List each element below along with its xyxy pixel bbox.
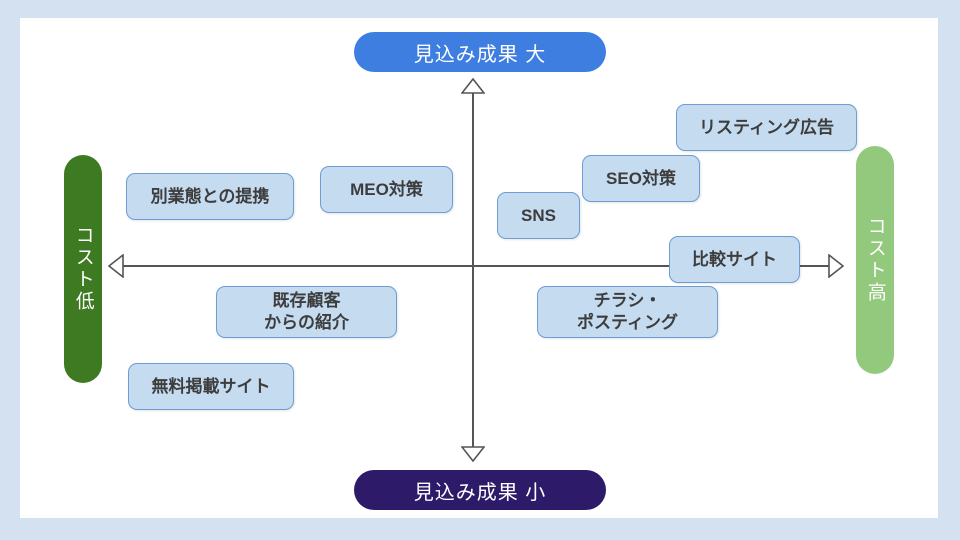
axis-label-bottom-low-result: 見込み成果 小 bbox=[354, 470, 606, 510]
axis-label-top-high-result: 見込み成果 大 bbox=[354, 32, 606, 72]
diagram-stage: 見込み成果 大 見込み成果 小 コスト低 コスト高 別業態との提携 MEO対策 … bbox=[0, 0, 960, 540]
item-box-meo[interactable]: MEO対策 bbox=[320, 166, 453, 213]
item-label: SNS bbox=[521, 205, 556, 227]
item-label-line2: からの紹介 bbox=[264, 312, 349, 334]
arrow-right-icon bbox=[828, 254, 844, 278]
vertical-axis-line bbox=[472, 92, 474, 450]
item-label-line1: チラシ・ bbox=[594, 291, 662, 310]
item-box-existing-customer-referral[interactable]: 既存顧客 からの紹介 bbox=[216, 286, 397, 338]
axis-label-left-low-cost: コスト低 bbox=[64, 155, 102, 383]
item-label: MEO対策 bbox=[350, 179, 423, 201]
item-label: 比較サイト bbox=[692, 249, 777, 271]
item-label: リスティング広告 bbox=[699, 117, 834, 139]
item-box-sns[interactable]: SNS bbox=[497, 192, 580, 239]
item-label: チラシ・ ポスティング bbox=[577, 290, 678, 334]
item-box-listing-ad[interactable]: リスティング広告 bbox=[676, 104, 857, 151]
arrow-left-icon bbox=[108, 254, 124, 278]
arrow-up-icon bbox=[461, 78, 485, 94]
item-box-betsugyotai[interactable]: 別業態との提携 bbox=[126, 173, 294, 220]
item-label: 別業態との提携 bbox=[151, 186, 270, 208]
axis-label-right-high-cost: コスト高 bbox=[856, 146, 894, 374]
item-label: 既存顧客 からの紹介 bbox=[264, 290, 349, 334]
item-box-seo[interactable]: SEO対策 bbox=[582, 155, 700, 202]
item-box-flyer-posting[interactable]: チラシ・ ポスティング bbox=[537, 286, 718, 338]
arrow-down-icon bbox=[461, 446, 485, 462]
item-box-comparison-site[interactable]: 比較サイト bbox=[669, 236, 800, 283]
item-label: 無料掲載サイト bbox=[152, 376, 271, 398]
item-label: SEO対策 bbox=[606, 168, 676, 190]
item-label-line1: 既存顧客 bbox=[273, 291, 341, 310]
item-box-free-listing-site[interactable]: 無料掲載サイト bbox=[128, 363, 294, 410]
item-label-line2: ポスティング bbox=[577, 312, 678, 334]
